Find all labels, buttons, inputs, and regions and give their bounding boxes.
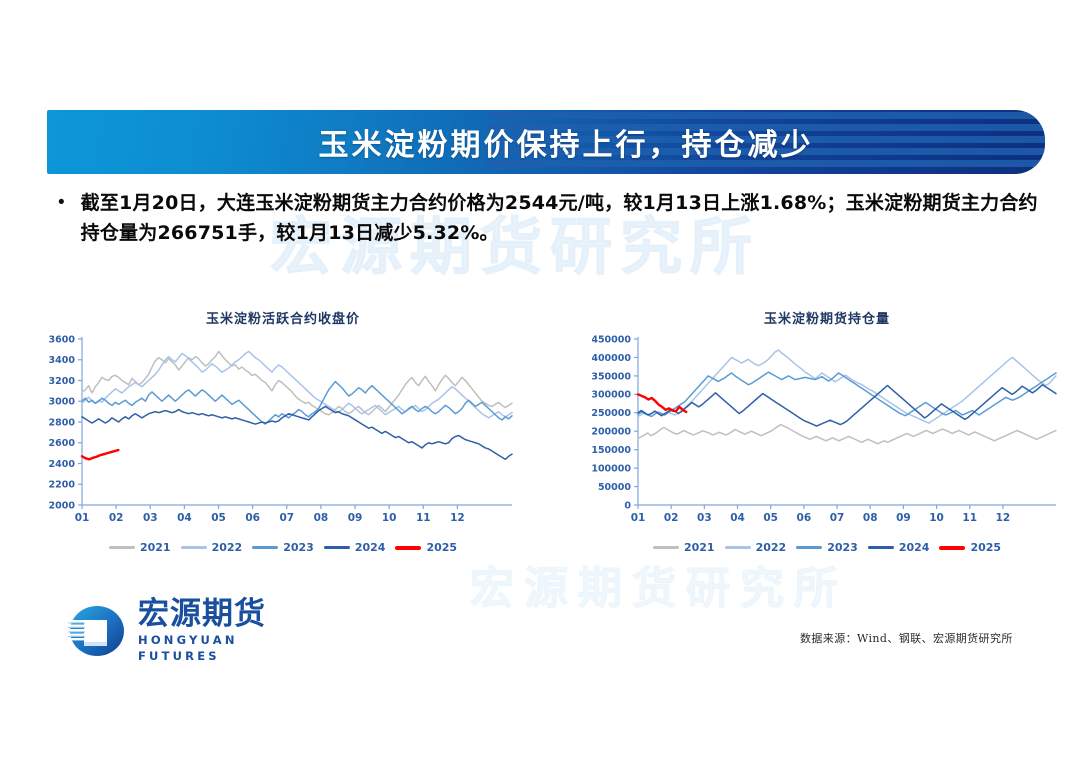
svg-text:3600: 3600 — [49, 334, 76, 345]
chart-price-svg: 2000220024002600280030003200340036000102… — [48, 333, 518, 533]
svg-text:300000: 300000 — [592, 390, 631, 401]
svg-text:01: 01 — [631, 512, 646, 524]
source-note: 数据来源：Wind、钢联、宏源期货研究所 — [800, 630, 1013, 646]
summary-bullet: • 截至1月20日，大连玉米淀粉期货主力合约价格为2544元/吨，较1月13日上… — [58, 188, 1038, 248]
svg-text:08: 08 — [314, 512, 329, 524]
legend-swatch-2025 — [395, 546, 421, 550]
legend-swatch-2022 — [181, 546, 207, 549]
svg-text:150000: 150000 — [592, 445, 631, 456]
bullet-marker: • — [58, 188, 65, 248]
legend-swatch-2023 — [796, 546, 822, 549]
svg-text:2600: 2600 — [49, 438, 76, 449]
legend-swatch-2022 — [725, 546, 751, 549]
chart-price-legend: 20212022202320242025 — [48, 541, 518, 554]
legend-swatch-2023 — [252, 546, 278, 549]
svg-text:450000: 450000 — [592, 334, 631, 345]
svg-text:2800: 2800 — [49, 417, 76, 428]
legend-item-2021: 2021 — [653, 541, 715, 554]
svg-text:02: 02 — [664, 512, 679, 524]
legend-swatch-2024 — [324, 546, 350, 549]
svg-text:05: 05 — [763, 512, 778, 524]
legend-label-2021: 2021 — [684, 541, 715, 554]
legend-label-2023: 2023 — [827, 541, 858, 554]
svg-text:09: 09 — [348, 512, 363, 524]
chart-price: 玉米淀粉活跃合约收盘价 2000220024002600280030003200… — [48, 308, 518, 568]
svg-text:3400: 3400 — [49, 355, 76, 366]
legend-label-2025: 2025 — [426, 541, 457, 554]
svg-text:07: 07 — [830, 512, 845, 524]
svg-text:50000: 50000 — [598, 482, 631, 493]
chart-open-interest-legend: 20212022202320242025 — [592, 541, 1062, 554]
hongyuan-logo-icon — [66, 603, 128, 659]
svg-text:06: 06 — [797, 512, 812, 524]
svg-text:200000: 200000 — [592, 427, 631, 438]
legend-swatch-2021 — [653, 546, 679, 549]
legend-item-2023: 2023 — [252, 541, 314, 554]
svg-text:01: 01 — [75, 512, 90, 524]
legend-swatch-2024 — [868, 546, 894, 549]
svg-text:03: 03 — [143, 512, 158, 524]
svg-text:04: 04 — [177, 512, 192, 524]
legend-item-2025: 2025 — [939, 541, 1001, 554]
legend-item-2025: 2025 — [395, 541, 457, 554]
svg-text:11: 11 — [962, 512, 977, 524]
svg-text:2000: 2000 — [49, 500, 76, 511]
svg-text:02: 02 — [109, 512, 124, 524]
company-logo: 宏源期货 HONGYUAN FUTURES — [66, 600, 316, 662]
logo-english-name: HONGYUAN FUTURES — [138, 632, 316, 664]
legend-label-2022: 2022 — [212, 541, 243, 554]
svg-text:400000: 400000 — [592, 353, 631, 364]
chart-open-interest: 玉米淀粉期货持仓量 050000100000150000200000250000… — [592, 308, 1062, 568]
svg-text:2400: 2400 — [49, 459, 76, 470]
legend-item-2024: 2024 — [324, 541, 386, 554]
svg-text:10: 10 — [929, 512, 944, 524]
page-title: 玉米淀粉期价保持上行，持仓减少 — [47, 120, 1045, 164]
logo-chinese-name: 宏源期货 — [138, 598, 316, 631]
legend-item-2023: 2023 — [796, 541, 858, 554]
legend-item-2024: 2024 — [868, 541, 930, 554]
chart-open-interest-svg: 0500001000001500002000002500003000003500… — [592, 333, 1062, 533]
svg-text:12: 12 — [450, 512, 465, 524]
chart-price-title: 玉米淀粉活跃合约收盘价 — [48, 308, 518, 327]
svg-text:3000: 3000 — [49, 397, 76, 408]
legend-item-2022: 2022 — [181, 541, 243, 554]
svg-text:100000: 100000 — [592, 464, 631, 475]
svg-text:250000: 250000 — [592, 408, 631, 419]
svg-text:05: 05 — [211, 512, 226, 524]
title-banner: 玉米淀粉期价保持上行，持仓减少 — [47, 110, 1045, 174]
svg-text:12: 12 — [996, 512, 1011, 524]
svg-text:09: 09 — [896, 512, 911, 524]
svg-text:04: 04 — [730, 512, 745, 524]
svg-text:11: 11 — [416, 512, 431, 524]
legend-label-2024: 2024 — [355, 541, 386, 554]
svg-text:350000: 350000 — [592, 371, 631, 382]
slide-root: 宏源期货研究所 宏源期货研究所 玉米淀粉期价保持上行，持仓减少 • 截至1月20… — [0, 0, 1080, 764]
chart-price-plot: 2000220024002600280030003200340036000102… — [48, 333, 518, 533]
svg-text:2200: 2200 — [49, 480, 76, 491]
legend-label-2024: 2024 — [899, 541, 930, 554]
svg-text:10: 10 — [382, 512, 397, 524]
legend-item-2022: 2022 — [725, 541, 787, 554]
svg-text:0: 0 — [624, 500, 631, 511]
svg-text:03: 03 — [697, 512, 712, 524]
legend-label-2023: 2023 — [283, 541, 314, 554]
logo-wordmark: 宏源期货 HONGYUAN FUTURES — [138, 598, 316, 665]
legend-label-2025: 2025 — [970, 541, 1001, 554]
legend-label-2022: 2022 — [756, 541, 787, 554]
svg-text:08: 08 — [863, 512, 878, 524]
legend-swatch-2021 — [109, 546, 135, 549]
svg-text:3200: 3200 — [49, 376, 76, 387]
legend-label-2021: 2021 — [140, 541, 171, 554]
legend-swatch-2025 — [939, 546, 965, 550]
svg-text:06: 06 — [245, 512, 260, 524]
legend-item-2021: 2021 — [109, 541, 171, 554]
svg-text:07: 07 — [279, 512, 294, 524]
chart-open-interest-title: 玉米淀粉期货持仓量 — [592, 308, 1062, 327]
bullet-body-text: 截至1月20日，大连玉米淀粉期货主力合约价格为2544元/吨，较1月13日上涨1… — [81, 188, 1038, 248]
chart-open-interest-plot: 0500001000001500002000002500003000003500… — [592, 333, 1062, 533]
